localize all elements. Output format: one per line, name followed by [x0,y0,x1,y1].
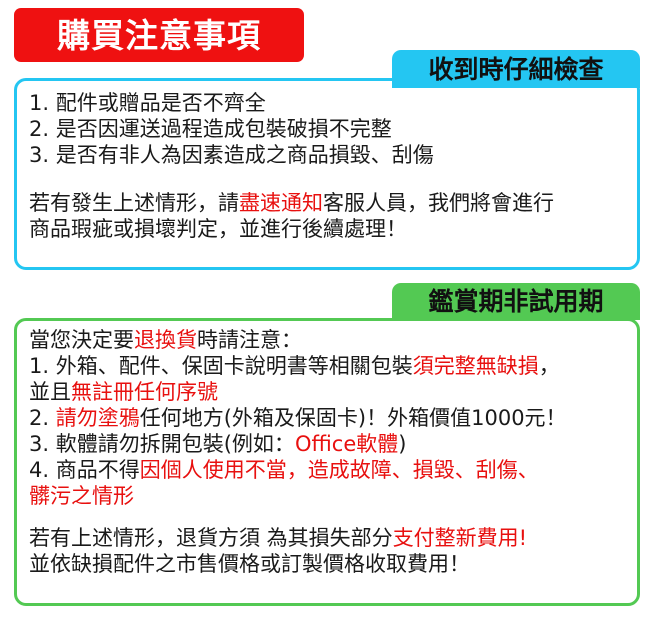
return-rule-item-2-emphasis: 請勿塗鴉 [56,406,140,430]
inspection-section-content: 1. 配件或贈品是否不齊全 2. 是否因運送過程造成包裝破損不完整 3. 是否有… [17,81,637,242]
purchase-notice-banner-title: 購買注意事項 [57,19,261,52]
inspection-note-line-2-text: 商品瑕疵或損壞判定，並進行後續處理！ [29,217,407,241]
return-rule-item-1-continued: 並且無註冊任何序號 [29,379,637,405]
return-rule-item-1-number: 1. [29,354,49,378]
inspection-checklist-item-3: 3. 是否有非人為因素造成之商品損毀、刮傷 [29,142,637,168]
return-rule-item-3-emphasis: Office軟體 [295,432,398,456]
return-section-tab: 鑑賞期非試用期 [392,283,640,320]
return-rule-item-4-part-a: 商品不得 [56,458,140,482]
return-rule-item-1-continued-emphasis: 無註冊任何序號 [71,380,218,404]
inspection-section-panel: 1. 配件或贈品是否不齊全 2. 是否因運送過程造成包裝破損不完整 3. 是否有… [14,78,640,270]
return-footer-line-1-emphasis: 支付整新費用! [393,526,527,550]
inspection-note-line-1-part-a: 若有發生上述情形，請 [29,191,239,215]
return-rule-item-4-continued: 髒污之情形 [29,483,637,509]
inspection-note-line-2: 商品瑕疵或損壞判定，並進行後續處理！ [29,216,637,242]
return-rule-item-1: 1. 外箱、配件、保固卡說明書等相關包裝須完整無缺損， [29,353,637,379]
return-rule-item-1-continued-part-a: 並且 [29,380,71,404]
return-rule-item-2-part-b: 任何地方(外箱及保固卡)！外箱價值1000元！ [140,406,567,430]
purchase-notice-banner: 購買注意事項 [14,8,304,62]
return-rule-item-3: 3. 軟體請勿拆開包裝(例如：Office軟體) [29,431,637,457]
return-rule-item-2: 2. 請勿塗鴉任何地方(外箱及保固卡)！外箱價值1000元！ [29,405,637,431]
inspection-section-tab: 收到時仔細檢查 [392,50,640,88]
inspection-checklist-item-1: 1. 配件或贈品是否不齊全 [29,90,637,116]
inspection-checklist-item-2-text: 是否因運送過程造成包裝破損不完整 [56,117,392,141]
return-footer-line-2-text: 並依缺損配件之市售價格或訂製價格收取費用！ [29,552,470,576]
return-section-panel: 當您決定要退換貨時請注意： 1. 外箱、配件、保固卡說明書等相關包裝須完整無缺損… [14,318,640,606]
inspection-checklist-item-3-text: 是否有非人為因素造成之商品損毀、刮傷 [56,143,434,167]
return-rule-item-4-continued-text: 髒污之情形 [29,484,134,508]
return-rule-item-1-part-c: ， [539,354,560,378]
return-section-tab-label: 鑑賞期非試用期 [428,289,603,314]
return-rule-item-3-part-a: 軟體請勿拆開包裝(例如： [56,432,295,456]
return-rule-item-3-number: 3. [29,432,49,456]
inspection-note-line-1: 若有發生上述情形，請盡速通知客服人員，我們將會進行 [29,190,637,216]
return-intro-part-a: 當您決定要 [29,328,134,352]
inspection-checklist-item-2-number: 2. [29,117,49,141]
inspection-checklist-item-1-number: 1. [29,91,49,115]
return-rule-item-1-part-a: 外箱、配件、保固卡說明書等相關包裝 [56,354,413,378]
inspection-checklist-item-1-text: 配件或贈品是否不齊全 [56,91,266,115]
inspection-note-line-1-emphasis: 盡速通知 [239,191,323,215]
return-intro-part-c: 時請注意： [197,328,302,352]
inspection-checklist-item-3-number: 3. [29,143,49,167]
return-rule-item-3-part-c: ) [398,432,406,456]
return-footer-line-1-part-a: 若有上述情形，退貨方須 為其損失部分 [29,526,393,550]
return-rule-item-2-number: 2. [29,406,49,430]
inspection-note-line-1-part-c: 客服人員，我們將會進行 [323,191,554,215]
inspection-section-tab-label: 收到時仔細檢查 [428,57,603,82]
return-rule-item-4-number: 4. [29,458,49,482]
return-intro-line: 當您決定要退換貨時請注意： [29,327,637,353]
return-rule-item-4-emphasis: 因個人使用不當，造成故障、損毀、刮傷、 [140,458,539,482]
return-footer-line-1: 若有上述情形，退貨方須 為其損失部分支付整新費用! [29,525,637,551]
return-footer-line-2: 並依缺損配件之市售價格或訂製價格收取費用！ [29,551,637,577]
inspection-checklist-item-2: 2. 是否因運送過程造成包裝破損不完整 [29,116,637,142]
return-rule-item-4: 4. 商品不得因個人使用不當，造成故障、損毀、刮傷、 [29,457,637,483]
return-rule-item-1-emphasis: 須完整無缺損 [413,354,539,378]
return-intro-emphasis: 退換貨 [134,328,197,352]
return-section-content: 當您決定要退換貨時請注意： 1. 外箱、配件、保固卡說明書等相關包裝須完整無缺損… [17,321,637,577]
